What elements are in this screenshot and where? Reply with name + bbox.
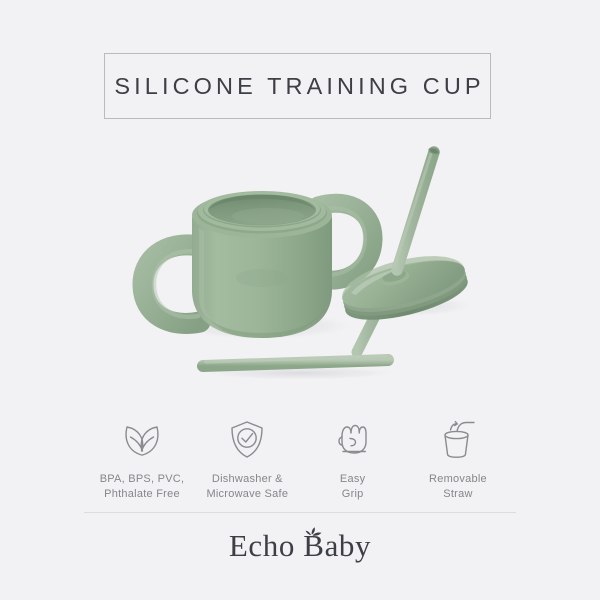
brand-name: Echo Baby	[229, 528, 371, 563]
attached-straw-upper	[394, 146, 440, 270]
feature-label: BPA, BPS, PVC, Phthalate Free	[100, 472, 185, 501]
brand-logo: Echo Baby	[0, 527, 600, 565]
left-handle	[143, 245, 200, 323]
brand-logo-wrap: Echo Baby	[229, 527, 371, 565]
feature-label: Removable Straw	[429, 472, 487, 501]
product-image	[0, 130, 600, 400]
cup-rim	[192, 191, 332, 241]
leaf-sprout-icon	[302, 526, 324, 542]
feature-item-dishwasher-safe: Dishwasher & Microwave Safe	[195, 418, 299, 501]
feature-item-easy-grip: Easy Grip	[301, 418, 405, 501]
fist-icon	[334, 418, 372, 462]
feature-label: Easy Grip	[340, 472, 365, 501]
product-illustration-svg	[0, 130, 600, 400]
cup-straw-icon	[436, 418, 480, 462]
page-title-box: SILICONE TRAINING CUP	[104, 53, 491, 119]
feature-item-bpa-free: BPA, BPS, PVC, Phthalate Free	[90, 418, 194, 501]
feature-label: Dishwasher & Microwave Safe	[206, 472, 288, 501]
product-infographic-page: SILICONE TRAINING CUP	[0, 0, 600, 600]
feature-item-removable-straw: Removable Straw	[406, 418, 510, 501]
loose-straw	[203, 356, 388, 366]
footer-divider	[84, 512, 516, 513]
leaf-icon	[120, 418, 164, 462]
shield-check-icon	[227, 418, 267, 462]
page-title: SILICONE TRAINING CUP	[110, 73, 484, 100]
feature-list: BPA, BPS, PVC, Phthalate Free Dishwasher…	[90, 418, 510, 504]
